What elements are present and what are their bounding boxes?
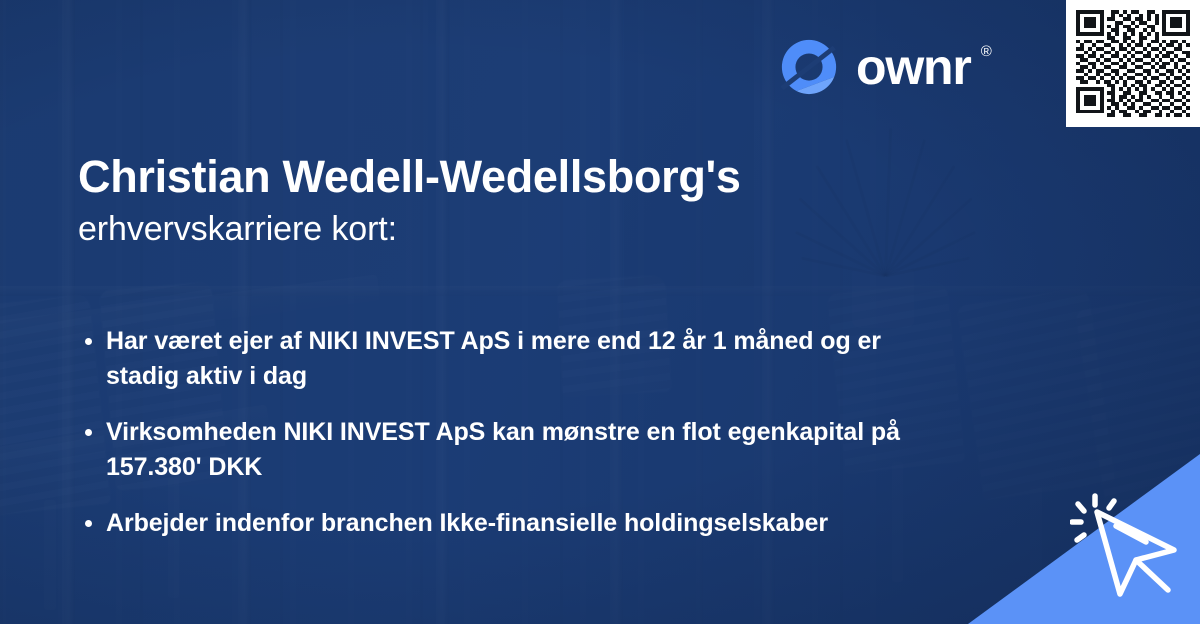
ownr-logo[interactable]: ownr® xyxy=(778,36,991,98)
list-item: Arbejder indenfor branchen Ikke-finansie… xyxy=(78,506,936,542)
list-item: Har været ejer af NIKI INVEST ApS i mere… xyxy=(78,324,936,395)
business-card-banner: ownr® Christian Wedell-Wedellsborg's erh… xyxy=(0,0,1200,624)
page-subtitle: erhvervskarriere kort: xyxy=(78,209,958,250)
ownr-wordmark: ownr® xyxy=(856,42,991,92)
facts-list: Har været ejer af NIKI INVEST ApS i mere… xyxy=(78,324,958,542)
qr-code-matrix xyxy=(1076,10,1190,117)
click-cursor-icon xyxy=(1070,490,1182,598)
card-content: Christian Wedell-Wedellsborg's erhvervsk… xyxy=(78,150,958,541)
page-title: Christian Wedell-Wedellsborg's xyxy=(78,150,958,203)
registered-trademark-icon: ® xyxy=(981,44,991,59)
ownr-circle-logo-icon xyxy=(778,36,840,98)
list-item: Virksomheden NIKI INVEST ApS kan mønstre… xyxy=(78,415,936,486)
ownr-wordmark-text: ownr xyxy=(856,39,971,95)
qr-code[interactable] xyxy=(1066,0,1200,127)
